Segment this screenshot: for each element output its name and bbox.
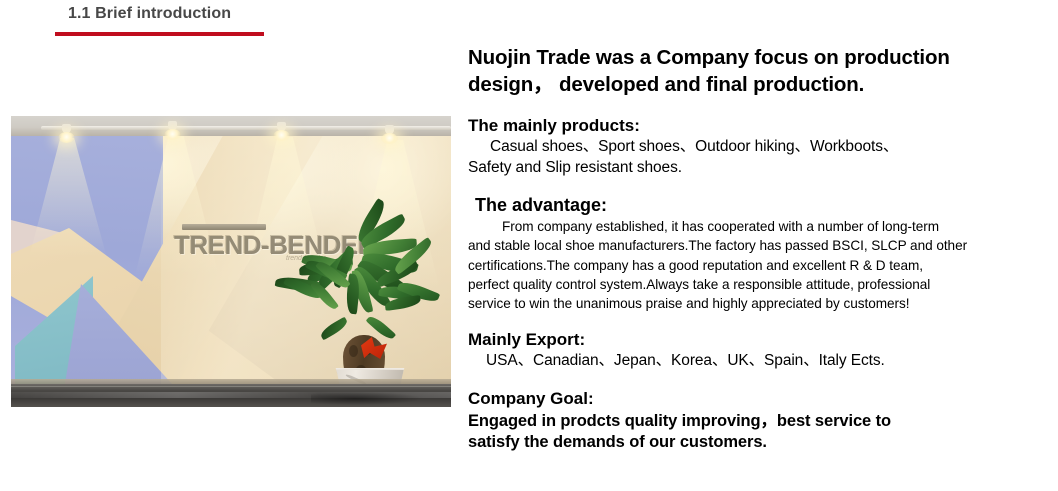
advantage-line-4: perfect quality control system.Always ta… — [468, 275, 1008, 294]
floor-edge-line — [11, 386, 451, 387]
headline-line-2: design， developed and final production. — [468, 71, 1008, 98]
advantage-line-5: service to win the unanimous praise and … — [468, 294, 1008, 313]
advantage-body: From company established, it has coopera… — [468, 217, 1008, 313]
company-introduction-text: Nuojin Trade was a Company focus on prod… — [468, 44, 1008, 454]
planter-shadow — [311, 392, 421, 405]
products-heading: The mainly products: — [468, 115, 1008, 137]
export-line-1: USA、Canadian、Jepan、Korea、UK、Spain、Italy … — [468, 351, 1008, 372]
headline-line-1: Nuojin Trade was a Company focus on prod… — [468, 44, 1008, 71]
slide-page: 1.1 Brief introduction — [0, 0, 1058, 491]
spotlight-glow — [273, 130, 290, 141]
products-line-1: Casual shoes、Sport shoes、Outdoor hiking、… — [468, 137, 1008, 158]
advantage-line-2: and stable local shoe manufacturers.The … — [468, 236, 1008, 255]
products-line-2: Safety and Slip resistant shoes. — [468, 158, 1008, 179]
spotlight-glow — [164, 129, 181, 140]
photo-canvas: TREND-BENDER trend bender — [11, 116, 451, 407]
spotlight-glow — [58, 132, 75, 143]
goal-line-2: satisfy the demands of our customers. — [468, 432, 1008, 454]
office-lobby-photo: TREND-BENDER trend bender — [11, 116, 451, 407]
advantage-heading: The advantage: — [475, 194, 1008, 217]
spotlight-glow — [381, 133, 398, 144]
goal-line-1: Engaged in prodcts quality improving，bes… — [468, 411, 1008, 433]
export-heading: Mainly Export: — [468, 329, 1008, 351]
goal-heading: Company Goal: — [468, 388, 1008, 410]
trunk-knot — [349, 345, 358, 357]
advantage-line-3: certifications.The company has a good re… — [468, 256, 1008, 275]
page-title: 1.1 Brief introduction — [68, 5, 231, 23]
advantage-line-1: From company established, it has coopera… — [468, 217, 1008, 236]
title-underline-rule — [55, 32, 264, 36]
leaf — [319, 317, 350, 341]
